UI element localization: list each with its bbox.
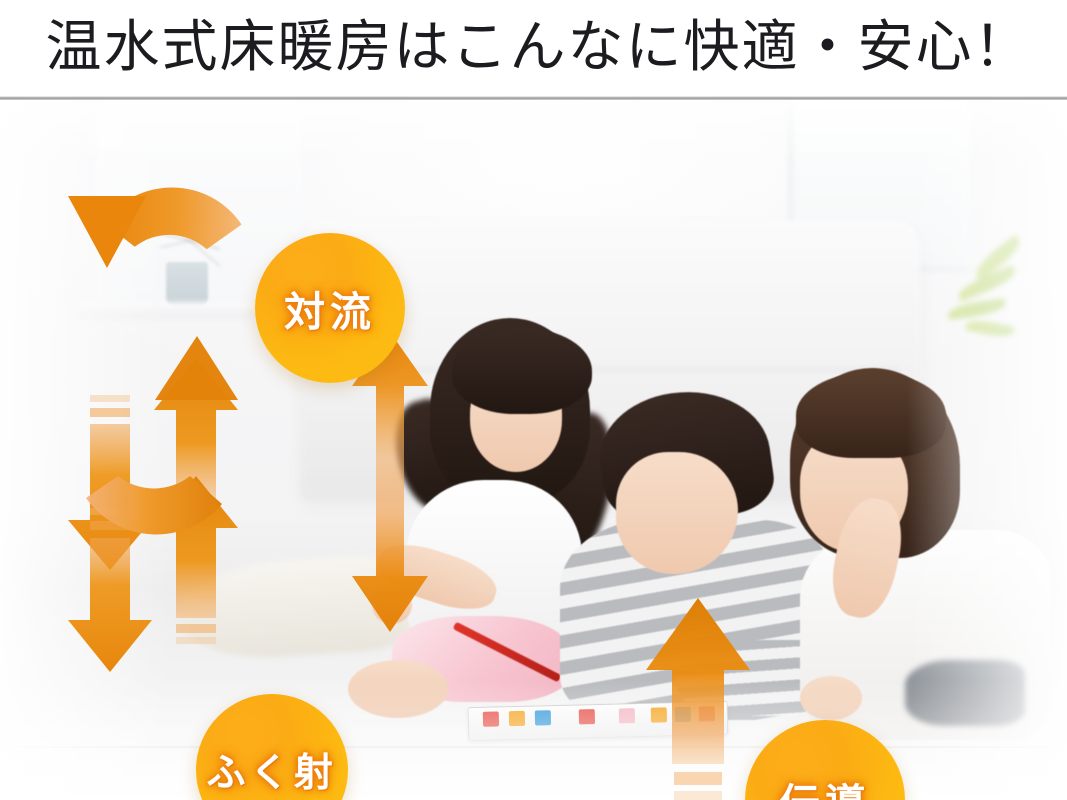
illustration-stage: 対流 ふく射 伝導 [0, 100, 1067, 800]
radiation-double-arrow [352, 332, 428, 680]
page-root: 温水式床暖房はこんなに快適・安心！ [0, 0, 1067, 800]
label-convection-text: 対流 [284, 278, 376, 338]
circulation-top-curve-arrow [68, 185, 243, 268]
label-radiation-text: ふく射 [206, 742, 337, 798]
page-header: 温水式床暖房はこんなに快適・安心！ [0, 0, 1067, 96]
label-conduction-text: 伝導 [779, 770, 871, 800]
page-title: 温水式床暖房はこんなに快適・安心！ [36, 20, 1032, 76]
heat-flow-arrows [0, 100, 1067, 800]
label-bubble-convection[interactable]: 対流 [255, 233, 405, 383]
conduction-up-arrow [646, 598, 750, 800]
